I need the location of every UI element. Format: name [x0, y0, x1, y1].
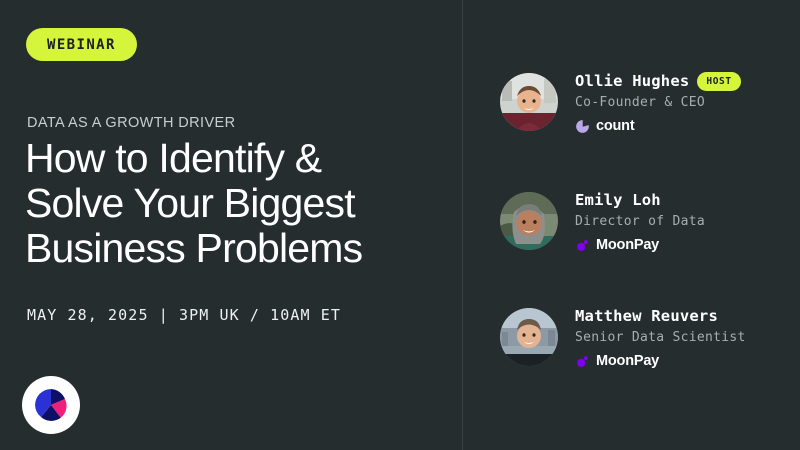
avatar-matthew-reuvers	[500, 308, 558, 366]
speaker-name: Ollie Hughes	[575, 72, 689, 90]
count-logo-icon	[31, 385, 71, 425]
webinar-promo-card: WEBINAR DATA AS A GROWTH DRIVER How to I…	[0, 0, 800, 450]
headline-line-3: Business Problems	[25, 226, 445, 271]
avatar-emily-loh	[500, 192, 558, 250]
speaker-role: Senior Data Scientist	[575, 330, 800, 345]
moonpay-mark-icon	[575, 238, 590, 253]
company-name: count	[596, 118, 634, 134]
speaker-company: MoonPay	[575, 236, 800, 254]
avatar-ollie-hughes	[500, 73, 558, 131]
eyebrow-text: DATA AS A GROWTH DRIVER	[27, 115, 235, 131]
speakers-column: Ollie Hughes HOST Co-Founder & CEO count	[463, 0, 800, 450]
speaker-name: Matthew Reuvers	[575, 307, 718, 325]
speaker-company: MoonPay	[575, 352, 800, 370]
webinar-badge-label: WEBINAR	[47, 37, 116, 53]
left-column: WEBINAR DATA AS A GROWTH DRIVER How to I…	[0, 0, 462, 450]
avatar	[500, 192, 558, 250]
speaker-card: Ollie Hughes HOST Co-Founder & CEO count	[500, 73, 800, 143]
host-badge: HOST	[697, 72, 740, 91]
speaker-role: Co-Founder & CEO	[575, 95, 800, 110]
count-mark-icon	[575, 119, 590, 134]
speaker-name-row: Ollie Hughes HOST	[575, 70, 800, 92]
speaker-name-row: Emily Loh	[575, 189, 800, 211]
event-datetime: MAY 28, 2025 | 3PM UK / 10AM ET	[27, 306, 341, 324]
count-logo	[22, 376, 80, 434]
speaker-card: Emily Loh Director of Data MoonPay	[500, 192, 800, 262]
speaker-company: count	[575, 117, 800, 135]
speaker-info: Matthew Reuvers Senior Data Scientist Mo…	[575, 305, 800, 370]
speaker-card: Matthew Reuvers Senior Data Scientist Mo…	[500, 308, 800, 378]
speaker-role: Director of Data	[575, 214, 800, 229]
speaker-info: Emily Loh Director of Data MoonPay	[575, 189, 800, 254]
avatar	[500, 308, 558, 366]
webinar-badge: WEBINAR	[26, 28, 137, 61]
page-title: How to Identify & Solve Your Biggest Bus…	[25, 136, 445, 271]
moonpay-mark-icon	[575, 354, 590, 369]
headline-line-1: How to Identify &	[25, 136, 445, 181]
speaker-name: Emily Loh	[575, 191, 661, 209]
speaker-name-row: Matthew Reuvers	[575, 305, 800, 327]
avatar	[500, 73, 558, 131]
company-name: MoonPay	[596, 353, 659, 369]
headline-line-2: Solve Your Biggest	[25, 181, 445, 226]
speaker-info: Ollie Hughes HOST Co-Founder & CEO count	[575, 70, 800, 135]
company-name: MoonPay	[596, 237, 659, 253]
